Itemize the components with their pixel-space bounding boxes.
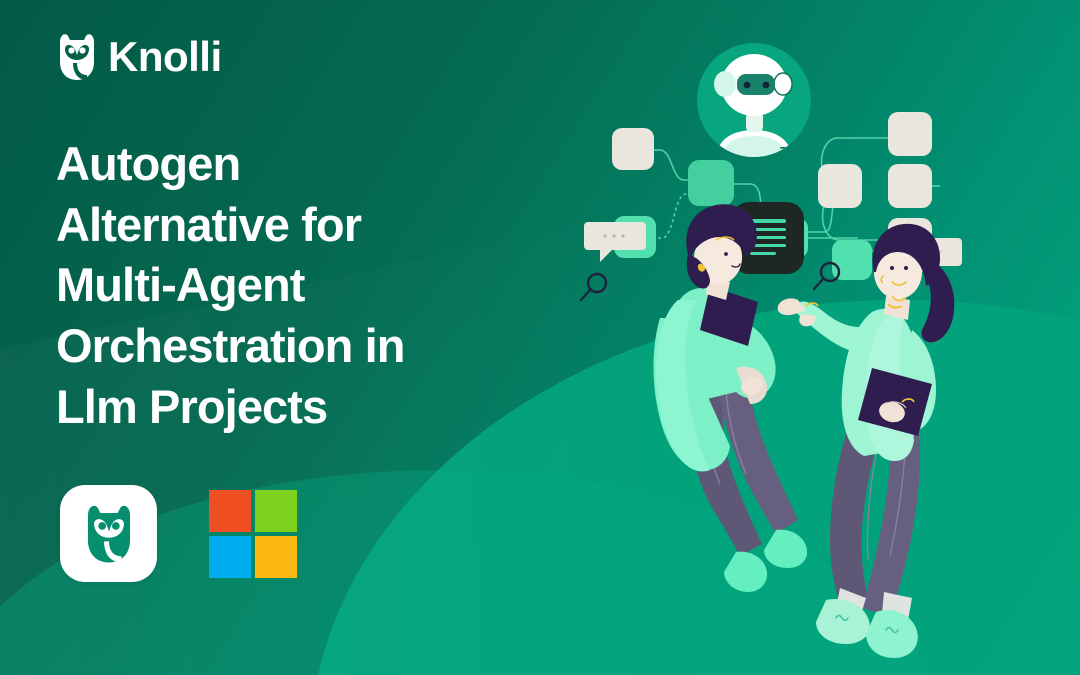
title-line-5: Llm Projects — [56, 377, 526, 438]
knolli-app-icon[interactable] — [60, 485, 157, 582]
robot-avatar — [697, 43, 811, 180]
red-square — [209, 490, 251, 532]
flow-node-4 — [818, 164, 862, 208]
page-title: Autogen Alternative for Multi-Agent Orch… — [56, 134, 526, 437]
blue-square — [209, 536, 251, 578]
shoe-left-2 — [724, 552, 767, 592]
flow-node-3 — [688, 160, 734, 206]
owl-icon — [56, 32, 98, 82]
multi-agent-orchestration-illustration — [540, 0, 1080, 675]
brand-logo[interactable]: Knolli — [56, 32, 222, 82]
title-line-4: Orchestration in — [56, 316, 526, 377]
green-square — [255, 490, 297, 532]
microsoft-logo[interactable] — [209, 490, 297, 578]
flow-node-5 — [888, 112, 932, 156]
title-line-2: Alternative for — [56, 195, 526, 256]
title-line-3: Multi-Agent — [56, 255, 526, 316]
brand-name: Knolli — [108, 36, 222, 78]
badge-row — [60, 485, 297, 582]
yellow-square — [255, 536, 297, 578]
magnifier-icon-left — [581, 274, 606, 300]
person-right — [778, 224, 955, 658]
flow-node-6 — [888, 164, 932, 208]
title-line-1: Autogen — [56, 134, 526, 195]
poster-canvas: Knolli Autogen Alternative for Multi-Age… — [0, 0, 1080, 675]
owl-icon — [83, 503, 135, 565]
flow-node-1 — [612, 128, 654, 170]
shoe-right-2 — [866, 610, 918, 658]
shoe-left-1 — [764, 530, 807, 568]
